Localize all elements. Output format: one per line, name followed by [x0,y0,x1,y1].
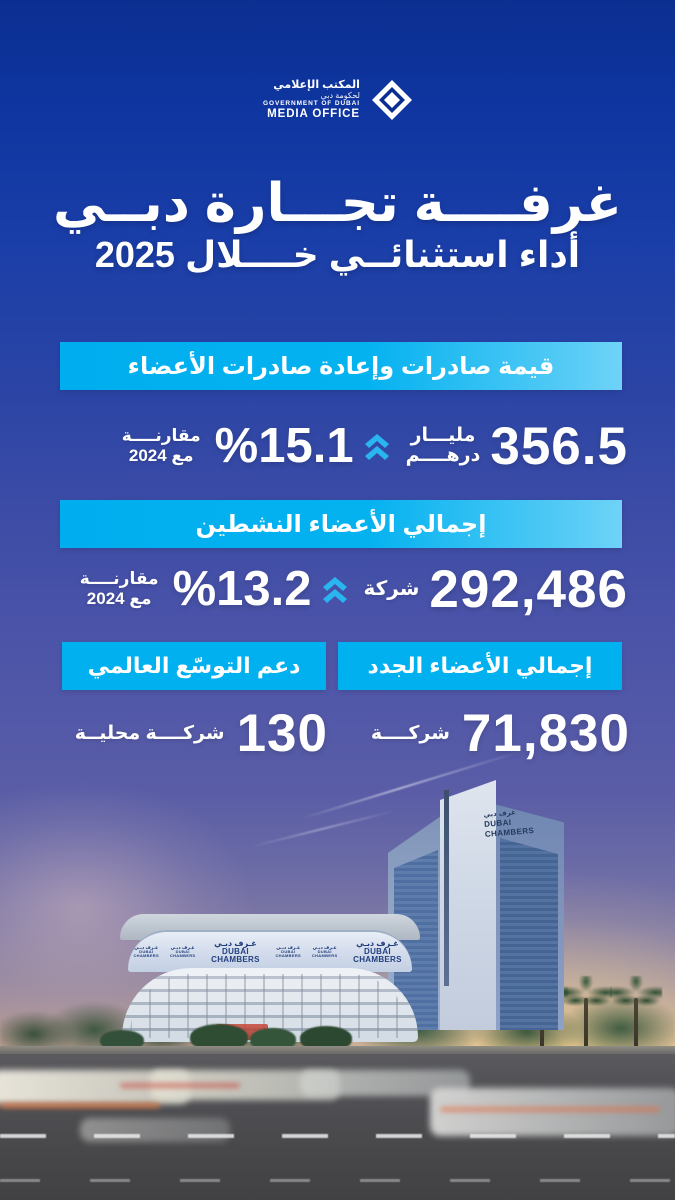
stat-row-new-members: 71,830 شركــــة [330,702,630,764]
headline-line2: أداء استثنائــي خــــلال 2025 [28,235,647,275]
round-sign-small: غـرف دبـي DUBAI CHAMBERS [128,946,164,959]
page-title: غرفــــة تجـــارة دبــي أداء استثنائــي … [28,176,647,275]
stat-banner-global-expansion: دعم التوسّع العالمي [62,642,326,690]
headline-line1: غرفــــة تجـــارة دبــي [28,176,647,231]
stat-value-new-members: 71,830 [462,707,630,760]
stat-unit-active-members: شركة [364,579,420,600]
round-sign-main: غـرف دبـي DUBAI CHAMBERS [343,940,412,964]
motion-blur-vehicle [80,1118,230,1142]
stat-change-exports: %15.1 [215,422,354,471]
media-office-logo: المكتب الإعلامي لحكومة دبي GOVERNMENT OF… [0,80,675,120]
stat-row-active-members: 292,486 شركة %13.2 مقارنــــة مع 2024 [48,556,628,622]
round-sign-small: غـرف دبـي DUBAI CHAMBERS [164,946,200,959]
stat-row-global-expansion: 130 شركــــة محليــة [48,702,328,764]
stat-change-active-members: %13.2 [173,565,312,614]
dubai-chambers-round-building: غـرف دبـي DUBAI CHAMBERS غـرف دبـي DUBAI… [120,914,420,1042]
motion-blur-vehicle [430,1088,675,1136]
stat-compare-exports: مقارنــــة مع 2024 [122,426,201,465]
stat-banner-active-members-label: إجمالي الأعضاء النشطين [196,510,487,539]
stat-label-new-members: شركــــة [371,722,450,745]
road-edge [0,1046,675,1054]
double-chevron-up-icon [364,431,390,461]
stat-banner-active-members: إجمالي الأعضاء النشطين [60,500,622,548]
stat-banner-exports: قيمة صادرات وإعادة صادرات الأعضاء [60,342,622,390]
round-sign-main: غـرف دبـي DUBAI CHAMBERS [201,940,270,964]
dubai-media-office-diamond-icon [372,80,412,120]
infographic-canvas: غرف دبي DUBAI CHAMBERS غـرف دبـي DUBAI C… [0,0,675,1200]
stat-label-global-expansion: شركــــة محليــة [75,722,225,745]
stat-banner-global-expansion-label: دعم التوسّع العالمي [88,653,301,679]
taillight-streak [120,1083,240,1088]
lane-marking [0,1134,675,1138]
stat-banner-new-members: إجمالي الأعضاء الجدد [338,642,622,690]
logo-english-line1: GOVERNMENT OF DUBAI [263,101,360,108]
double-chevron-up-icon [322,574,348,604]
palm-tree-icon [612,982,660,1050]
taillight-streak [0,1103,160,1108]
lane-marking [0,1179,675,1182]
stat-compare-active-members: مقارنــــة مع 2024 [80,569,159,608]
logo-text-block: المكتب الإعلامي لحكومة دبي GOVERNMENT OF… [263,80,360,120]
stat-row-exports: 356.5 مليـــار درهــــم %15.1 مقارنــــة… [48,412,628,480]
logo-arabic-line2: لحكومة دبي [263,92,360,100]
stat-value-active-members: 292,486 [429,563,628,616]
stat-banner-exports-label: قيمة صادرات وإعادة صادرات الأعضاء [128,352,555,381]
stat-value-exports: 356.5 [490,420,628,473]
stat-value-global-expansion: 130 [237,707,328,760]
logo-arabic-line1: المكتب الإعلامي [263,80,360,92]
dubai-chambers-building-photo: غرف دبي DUBAI CHAMBERS غـرف دبـي DUBAI C… [0,785,675,1200]
logo-english-line2: MEDIA OFFICE [263,108,360,120]
tower-signage: غرف دبي DUBAI CHAMBERS [483,805,559,837]
round-sign-small: غـرف دبـي DUBAI CHAMBERS [270,946,306,959]
stat-banner-new-members-label: إجمالي الأعضاء الجدد [368,653,593,679]
round-sign-small: غـرف دبـي DUBAI CHAMBERS [306,946,342,959]
stat-unit-exports: مليـــار درهــــم [406,426,481,466]
taillight-streak [440,1107,660,1112]
